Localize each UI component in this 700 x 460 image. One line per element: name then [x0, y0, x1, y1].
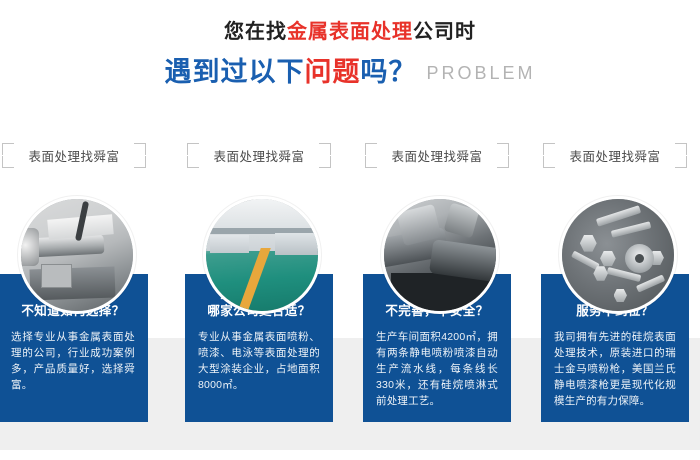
- bracket-corner-icon: [543, 143, 555, 155]
- card-tag-bracket: 表面处理找舜富: [541, 140, 689, 170]
- card-tag-bracket: 表面处理找舜富: [0, 140, 148, 170]
- heading-line-2: 遇到过以下问题吗？PROBLEM: [0, 54, 700, 91]
- bracket-corner-icon: [497, 143, 509, 155]
- machinery-equipment-photo: [384, 199, 496, 311]
- bracket-corner-icon: [365, 143, 377, 155]
- card-tag-label: 表面处理找舜富: [391, 146, 482, 165]
- card-tag-bracket: 表面处理找舜富: [363, 140, 511, 170]
- bracket-corner-icon: [319, 156, 331, 168]
- bracket-corner-icon: [497, 156, 509, 168]
- heading-english-label: PROBLEM: [426, 63, 535, 83]
- card-photo: [18, 196, 136, 314]
- section-heading: 您在找金属表面处理公司时 遇到过以下问题吗？PROBLEM: [0, 18, 700, 91]
- bracket-corner-icon: [675, 143, 687, 155]
- bracket-corner-icon: [2, 143, 14, 155]
- card-tag-label: 表面处理找舜富: [569, 146, 660, 165]
- heading-line-1: 您在找金属表面处理公司时: [0, 18, 700, 46]
- heading-line2-highlight: 问题: [304, 57, 360, 87]
- card-photo: [559, 196, 677, 314]
- lathe-machining-photo: [21, 199, 133, 311]
- bracket-corner-icon: [2, 156, 14, 168]
- card-tag-label: 表面处理找舜富: [213, 146, 304, 165]
- problem-cards-row: 表面处理找舜富 设备不了解 不知道如何选择？ 选择专业从事金属表面处理的公司，行…: [0, 140, 700, 430]
- heading-line2-suffix: 吗？: [360, 57, 416, 87]
- bracket-corner-icon: [365, 156, 377, 168]
- factory-corridor-photo: [206, 199, 318, 311]
- bracket-corner-icon: [675, 156, 687, 168]
- bracket-corner-icon: [543, 156, 555, 168]
- problem-card[interactable]: 表面处理找舜富 相关特种设备 不完善，不安全？ 生产车间面积4200㎡，拥有两条…: [363, 140, 511, 424]
- heading-line1-prefix: 您在找: [224, 21, 287, 43]
- heading-line2-prefix: 遇到过以下: [164, 57, 304, 87]
- card-body-text: 生产车间面积4200㎡，拥有两条静电喷粉喷漆自动生产流水线，每条线长330米，还…: [376, 329, 498, 409]
- bolts-nuts-parts-photo: [562, 199, 674, 311]
- card-photo: [381, 196, 499, 314]
- heading-line1-highlight: 金属表面处理: [287, 21, 413, 43]
- card-tag-label: 表面处理找舜富: [28, 146, 119, 165]
- card-body-text: 专业从事金属表面喷粉、喷漆、电泳等表面处理的大型涂装企业，占地面积8000㎡。: [198, 329, 320, 393]
- bracket-corner-icon: [187, 143, 199, 155]
- card-tag-bracket: 表面处理找舜富: [185, 140, 333, 170]
- problem-section-page: 您在找金属表面处理公司时 遇到过以下问题吗？PROBLEM 表面处理找舜富 设备…: [0, 0, 700, 460]
- bracket-corner-icon: [134, 156, 146, 168]
- bracket-corner-icon: [319, 143, 331, 155]
- heading-line1-suffix: 公司时: [413, 21, 476, 43]
- problem-card[interactable]: 表面处理找舜富 产品质量差: [541, 140, 689, 424]
- problem-card[interactable]: 表面处理找舜富 金属表面处理 哪家公司更合适？ 专业从事金属表面喷粉、喷漆、电泳…: [185, 140, 333, 424]
- card-body-text: 选择专业从事金属表面处理的公司，行业成功案例多，产品质量好，选择舜富。: [11, 329, 135, 393]
- bracket-corner-icon: [134, 143, 146, 155]
- problem-card[interactable]: 表面处理找舜富 设备不了解 不知道如何选择？ 选择专业从事金属表面处理的公司，行…: [0, 140, 148, 424]
- card-body-text: 我司拥有先进的硅烷表面处理技术，原装进口的瑞士金马喷粉枪，美国兰氏静电喷漆枪更是…: [554, 329, 676, 409]
- card-photo: [203, 196, 321, 314]
- bracket-corner-icon: [187, 156, 199, 168]
